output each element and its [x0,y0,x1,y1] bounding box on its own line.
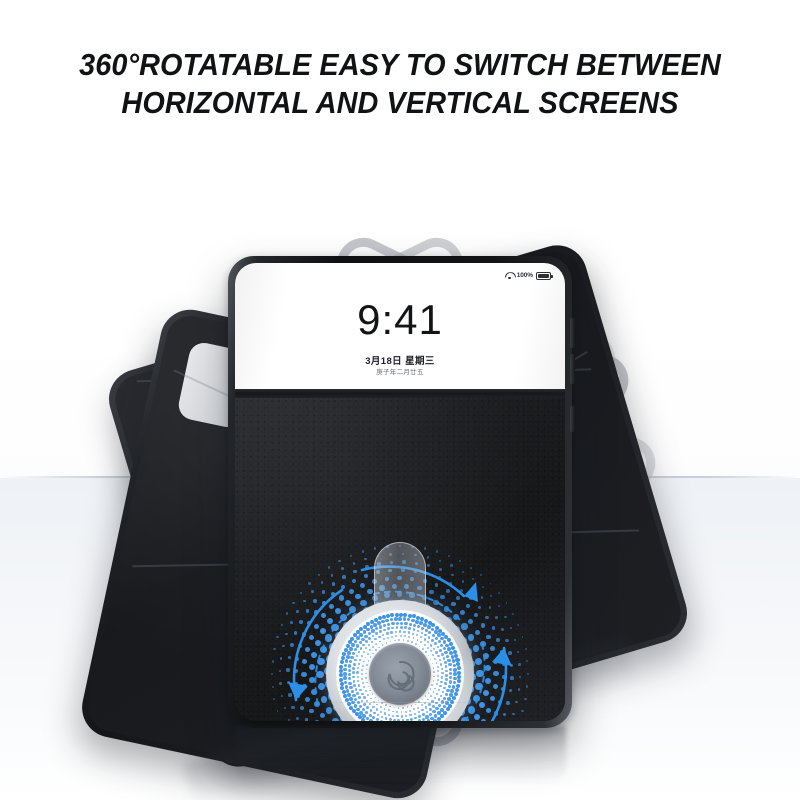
hub-halftone-dot [422,699,424,701]
hub-halftone-dot [443,687,446,690]
screen-glare [235,263,565,389]
hub-halftone-dot [445,670,448,673]
hub-halftone-dot [435,707,438,710]
hub-halftone-dot [357,680,359,682]
hub-halftone-dot [400,622,403,625]
hub-halftone-dot [422,718,425,721]
hub-halftone-dot [362,665,364,667]
hub-halftone-dot [363,696,365,698]
hub-halftone-dot [449,672,452,675]
hub-halftone-dot [432,634,435,637]
hub-halftone-dot [436,662,438,664]
rotating-hub-center[interactable] [369,643,431,705]
hub-halftone-dot [428,703,430,705]
hub-halftone-dot [434,688,436,690]
hub-halftone-dot [345,685,349,689]
hub-halftone-dot [425,695,427,697]
hub-halftone-dot [349,660,352,663]
hub-halftone-dot [344,648,348,652]
hub-halftone-dot [381,716,384,719]
hub-halftone-dot [407,706,409,708]
hub-halftone-dot [366,682,368,684]
hub-halftone-dot [352,652,355,655]
hub-halftone-dot [406,719,409,721]
arrowhead-top [464,582,478,602]
hub-halftone-dot [409,623,412,626]
hub-halftone-dot [391,622,394,625]
volume-down-button[interactable] [570,354,575,384]
hub-halftone-dot [445,665,448,668]
hub-halftone-dot [347,693,351,697]
hub-halftone-dot [398,639,400,641]
hub-halftone-dot [386,642,388,644]
hub-halftone-dot [372,693,374,695]
hub-halftone-dot [362,644,365,647]
hub-halftone-dot [415,620,419,624]
hub-halftone-dot [457,679,461,683]
hub-halftone-dot [418,715,421,718]
hub-halftone-dot [437,646,440,649]
hub-halftone-dot [446,689,449,692]
hub-halftone-dot [445,678,448,681]
hub-halftone-dot [427,641,429,643]
case-back-panel [235,398,565,721]
hub-halftone-dot [380,711,382,713]
hub-halftone-dot [378,700,380,702]
hub-halftone-dot [413,708,415,710]
hub-halftone-dot [346,689,350,693]
hub-halftone-dot [444,651,447,654]
hub-halftone-dot [404,635,406,637]
hub-halftone-dot [417,707,419,709]
hub-halftone-dot [409,714,411,716]
hub-halftone-dot [356,671,358,673]
hub-halftone-dot [345,659,349,663]
hub-halftone-dot [348,677,351,680]
hub-halftone-dot [369,714,372,717]
hub-halftone-dot [421,627,424,630]
hub-halftone-dot [383,624,386,627]
hub-halftone-dot [444,661,447,664]
hub-halftone-dot [363,661,365,663]
hub-halftone-dot [443,640,447,644]
hub-halftone-dot [344,681,348,685]
hub-halftone-dot [389,718,392,721]
hub-halftone-dot [349,686,352,689]
hub-halftone-dot [376,704,378,706]
hub-halftone-dot [409,710,411,712]
hub-halftone-dot [430,688,432,690]
hub-halftone-dot [449,668,452,671]
hub-halftone-dot [434,642,437,645]
hub-halftone-dot [369,690,371,692]
hub-halftone-dot [349,697,353,701]
hub-halftone-dot [365,690,367,692]
hub-halftone-dot [387,637,389,639]
hub-halftone-dot [368,660,370,662]
lockscreen[interactable]: 100% 9:41 3月18日 星期三 庚子年二月廿五 [235,263,565,389]
hub-halftone-dot [441,668,443,670]
hub-halftone-dot [361,638,364,641]
hub-halftone-dot [391,636,393,638]
hub-halftone-dot [344,664,348,668]
hub-halftone-dot [346,655,350,659]
hub-halftone-dot [437,666,439,668]
hub-halftone-dot [433,719,437,721]
hub-halftone-dot [362,714,366,718]
hub-halftone-dot [433,648,435,650]
hub-halftone-dot [356,644,359,647]
hub-halftone-dot [352,694,355,697]
hub-halftone-dot [339,678,343,682]
hub-halftone-dot [339,669,343,673]
hub-halftone-dot [388,709,390,711]
hub-halftone-dot [358,696,361,699]
hub-halftone-dot [377,714,380,717]
hub-halftone-dot [355,688,358,691]
hub-halftone-dot [395,635,397,637]
hub-halftone-dot [444,682,447,685]
hub-halftone-dot [340,682,344,686]
hub-halftone-dot [398,617,402,621]
hub-halftone-dot [425,651,427,653]
hub-halftone-dot [442,691,445,694]
hub-halftone-dot [434,697,436,699]
hub-halftone-dot [425,715,428,718]
hub-halftone-dot [361,673,363,675]
hub-halftone-dot [354,648,357,651]
hub-halftone-dot [372,716,375,719]
hub-halftone-dot [440,663,442,665]
hub-halftone-dot [424,634,427,637]
hub-halftone-dot [358,684,360,686]
hub-halftone-dot [339,673,343,677]
hub-halftone-dot [407,618,411,622]
hub-halftone-dot [352,671,355,674]
hub-halftone-dot [428,692,430,694]
hub-halftone-dot [375,632,378,635]
hub-halftone-dot [363,625,367,629]
hub-halftone-dot [371,629,374,632]
hub-halftone-dot [396,711,398,713]
hub-halftone-dot [428,655,430,657]
hub-halftone-dot [394,640,396,642]
hub-halftone-dot [430,650,432,652]
hub-halftone-dot [391,627,394,630]
hub-halftone-dot [437,679,439,681]
hub-halftone-dot [357,667,359,669]
hub-halftone-dot [441,672,443,674]
volume-up-button[interactable] [570,318,575,348]
hub-halftone-dot [361,669,363,671]
hub-halftone-dot [369,719,373,721]
hub-halftone-dot [375,627,378,630]
hub-halftone-dot [376,708,378,710]
hub-halftone-dot [433,671,435,673]
hub-halftone-dot [443,657,446,660]
hub-halftone-dot [437,670,439,672]
hub-halftone-dot [361,693,363,695]
hub-halftone-dot [395,631,397,633]
hub-halftone-dot [434,658,436,660]
hub-halftone-dot [399,630,401,632]
hub-halftone-dot [385,619,389,623]
hub-halftone-dot [438,640,441,643]
hub-halftone-dot [407,640,409,642]
hub-halftone-dot [365,657,367,659]
hub-halftone-dot [393,719,396,721]
side-button[interactable] [570,406,575,432]
hub-halftone-dot [448,663,451,666]
hub-halftone-dot [402,719,405,721]
hub-halftone-dot [401,715,403,717]
hub-halftone-dot [449,676,452,679]
hub-halftone-dot [370,698,372,700]
main-tablet[interactable]: 100% 9:41 3月18日 星期三 庚子年二月廿五 [228,256,572,728]
hub-halftone-dot [446,655,449,658]
hub-halftone-dot [369,649,371,651]
hub-halftone-dot [378,647,380,649]
hub-halftone-dot [361,678,363,680]
hub-halftone-dot [396,626,399,629]
hub-halftone-dot [443,697,446,700]
hub-halftone-dot [349,647,353,651]
hub-halftone-dot [413,628,416,631]
hub-halftone-dot [421,632,424,635]
hub-halftone-dot [438,698,441,701]
hub-halftone-dot [437,655,439,657]
hub-halftone-dot [436,693,438,695]
hub-halftone-dot [358,663,360,665]
hub-halftone-dot [420,641,422,643]
arrowhead-right [492,648,512,666]
hub-halftone-dot [422,648,424,650]
hub-halftone-dot [365,677,367,679]
hub-halftone-dot [361,655,363,657]
hub-halftone-dot [366,706,369,709]
hub-halftone-dot [366,669,368,671]
hub-halftone-dot [348,664,351,667]
hub-halftone-dot [353,684,356,687]
hub-halftone-dot [440,681,442,683]
hub-halftone-dot [364,635,367,638]
hub-halftone-dot [445,674,448,677]
hub-halftone-dot [388,714,390,716]
headline: 360°ROTATABLE EASY TO SWITCH BETWEEN HOR… [28,46,772,122]
hub-halftone-dot [432,663,434,665]
hub-halftone-dot [348,669,351,672]
hub-halftone-dot [377,621,381,625]
hub-halftone-dot [359,641,362,644]
hub-halftone-dot [359,659,361,661]
hub-halftone-dot [386,632,388,634]
hub-halftone-dot [433,676,435,678]
hub-halftone-dot [392,715,394,717]
headline-line-1: 360°ROTATABLE EASY TO SWITCH BETWEEN [79,47,721,82]
hub-halftone-dot [430,659,432,661]
hub-halftone-dot [418,711,420,713]
hub-halftone-dot [350,656,353,659]
hub-halftone-dot [366,664,368,666]
hub-halftone-dot [387,627,390,630]
hub-halftone-dot [358,651,361,654]
hub-halftone-dot [383,638,385,640]
hub-halftone-dot [427,719,431,721]
hub-halftone-dot [365,640,368,643]
hub-halftone-dot [449,680,452,683]
hub-halftone-dot [438,704,441,707]
hub-halftone-dot [443,647,446,650]
hub-halftone-dot [383,629,386,632]
hub-halftone-dot [403,617,407,621]
hub-halftone-dot [385,704,387,706]
hub-halftone-dot [368,686,370,688]
hub-halftone-dot [370,709,373,712]
hub-halftone-dot [420,636,422,638]
hub-halftone-dot [390,631,392,633]
hub-halftone-dot [353,663,356,666]
hub-halftone-dot [439,659,441,661]
hub-halftone-dot [415,643,417,645]
hub-halftone-dot [421,704,423,706]
hub-halftone-dot [379,625,382,628]
swirl-icon [383,657,417,691]
hub-halftone-dot [402,707,404,709]
hub-halftone-dot [414,717,417,720]
hub-halftone-dot [354,659,357,662]
hub-halftone-dot [379,641,381,643]
hub-halftone-dot [360,647,363,650]
hub-halftone-dot [437,717,441,721]
hub-halftone-dot [438,689,440,691]
hub-halftone-dot [368,644,370,646]
hub-halftone-dot [418,719,421,721]
hub-halftone-dot [403,639,405,641]
hub-halftone-dot [404,626,407,629]
hub-halftone-dot [374,638,376,640]
hub-halftone-dot [367,694,369,696]
hub-halftone-dot [390,618,394,622]
hub-halftone-dot [408,627,411,630]
hub-halftone-dot [400,626,403,629]
hub-halftone-dot [432,710,435,713]
hub-halftone-dot [381,620,385,624]
hub-halftone-dot [398,707,400,709]
hub-halftone-dot [379,630,382,633]
hub-halftone-dot [363,686,365,688]
hub-halftone-dot [405,711,407,713]
hub-halftone-dot [365,711,368,714]
hub-halftone-dot [431,684,433,686]
hub-halftone-dot [384,712,386,714]
hub-halftone-dot [448,685,451,688]
hub-halftone-dot [363,630,367,634]
hub-halftone-dot [396,715,398,717]
hub-halftone-dot [397,719,400,721]
hub-halftone-dot [424,644,426,646]
hub-halftone-dot [428,636,431,639]
hub-halftone-dot [378,636,380,638]
hub-halftone-dot [351,643,355,647]
hub-halftone-dot [357,676,359,678]
hub-halftone-dot [368,637,371,640]
hub-halftone-dot [359,689,361,691]
hub-halftone-dot [435,651,437,653]
hub-halftone-dot [365,673,367,675]
hub-halftone-dot [410,718,413,721]
hub-halftone-dot [427,699,429,701]
hub-halftone-dot [385,717,388,720]
hub-halftone-dot [411,619,415,623]
hub-halftone-dot [408,631,410,633]
hub-halftone-dot [440,695,443,698]
hub-halftone-dot [411,641,413,643]
hub-halftone-dot [417,630,420,633]
hub-halftone-dot [415,704,417,706]
hub-halftone-dot [373,712,376,715]
hub-halftone-dot [419,646,421,648]
hub-halftone-dot [356,655,359,658]
hub-halftone-dot [369,703,371,705]
hub-halftone-dot [363,651,365,653]
hub-halftone-dot [430,644,432,646]
product-marketing-image: 360°ROTATABLE EASY TO SWITCH BETWEEN HOR… [0,0,800,800]
hub-halftone-dot [392,711,394,713]
hub-halftone-dot [371,641,373,643]
hub-halftone-dot [384,708,386,710]
hub-halftone-dot [343,668,347,672]
headline-line-2: HORIZONTAL AND VERTICAL SCREENS [28,84,772,122]
hub-halftone-dot [347,651,351,655]
hub-halftone-dot [447,659,450,662]
hub-halftone-dot [372,646,374,648]
hub-halftone-dot [352,676,355,679]
hub-halftone-dot [417,639,419,641]
hub-halftone-dot [445,693,448,696]
hub-halftone-dot [389,706,391,708]
case-bottom-groove [314,702,486,703]
hub-halftone-dot [414,713,416,715]
hub-halftone-dot [431,639,434,642]
hub-halftone-dot [403,613,407,617]
hub-halftone-dot [433,680,435,682]
hub-halftone-dot [365,647,367,649]
hub-halftone-dot [361,718,365,721]
hub-halftone-dot [413,624,416,627]
hub-halftone-dot [372,635,375,638]
hub-halftone-dot [416,634,418,636]
hub-halftone-dot [437,675,439,677]
hub-halftone-dot [375,643,377,645]
hub-halftone-dot [457,666,461,670]
arrowhead-left [288,682,308,700]
hub-halftone-dot [346,644,350,648]
hub-halftone-dot [387,623,390,626]
hub-halftone-dot [372,706,374,708]
hub-halftone-dot [441,676,443,678]
hub-halftone-dot [375,649,377,651]
hub-halftone-dot [394,617,398,621]
hub-halftone-dot [359,711,363,715]
hub-halftone-dot [343,676,347,680]
hub-halftone-dot [422,713,425,716]
hub-halftone-dot [401,711,403,713]
hub-halftone-dot [441,653,444,656]
hub-halftone-dot [433,667,435,669]
hub-halftone-dot [439,649,442,652]
hub-halftone-dot [439,685,441,687]
hub-halftone-dot [359,633,363,637]
